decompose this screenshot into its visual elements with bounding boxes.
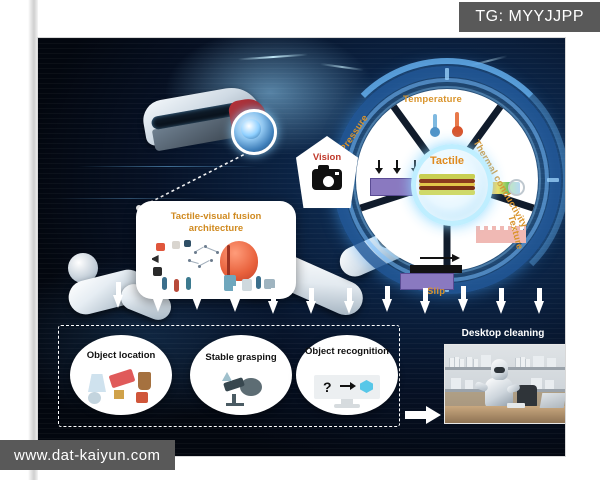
- right-arrow-icon: [405, 406, 441, 424]
- megaphone-icon: [152, 255, 163, 263]
- speaker-icon: [156, 243, 165, 251]
- down-arrow-icon: [113, 282, 124, 308]
- task-label-object-location: Object location: [70, 350, 172, 361]
- down-arrow-icon: [306, 288, 317, 314]
- brain-divider-icon: [227, 245, 230, 279]
- monitor-question-icon: ?: [314, 375, 380, 409]
- down-arrow-icon: [382, 286, 393, 312]
- tactile-center-label: Tactile: [411, 155, 483, 167]
- person-icon: [174, 279, 179, 292]
- person-icon: [186, 277, 191, 290]
- watermark-bottom-left: www.dat-kaiyun.com: [0, 440, 175, 470]
- page-edge-shadow: [28, 0, 38, 480]
- gripper-icon: [218, 372, 264, 406]
- camera-lens-icon: [321, 174, 336, 189]
- person-icon: [256, 276, 261, 289]
- watermark-top-right: TG: MYYJJPP: [459, 2, 600, 32]
- down-arrow-icon: [496, 288, 507, 314]
- task-label-object-recognition: Object recognition: [296, 346, 398, 357]
- demo-title: Desktop cleaning: [438, 328, 565, 339]
- thermometer-cold-icon: [428, 114, 442, 136]
- thermometer-hot-icon: [450, 112, 464, 136]
- down-arrow-icon: [192, 284, 203, 310]
- hud-tick: [547, 178, 559, 182]
- tactile-sensor-stack: [419, 174, 475, 196]
- down-arrow-icon: [534, 288, 545, 314]
- laptop-icon: [540, 393, 565, 408]
- robot-desk-photo: [444, 344, 565, 424]
- down-arrow-icon: [268, 288, 279, 314]
- hud-tick: [445, 68, 449, 80]
- fusion-architecture-illustration: [150, 239, 282, 293]
- photo-icon: [172, 241, 180, 249]
- tile-icon: [184, 240, 191, 247]
- robot-eye-iris: [241, 119, 261, 139]
- objects-cluster-icon: [84, 370, 158, 406]
- vision-label: Vision: [296, 152, 358, 163]
- camera-flash-icon: [335, 172, 339, 175]
- desk-icon: [242, 279, 252, 291]
- slip-arrow-icon: [420, 254, 466, 263]
- down-arrow-icon: [344, 288, 355, 314]
- desk-surface: [445, 406, 565, 423]
- wheel-label-temperature: Temperature: [403, 94, 462, 105]
- down-arrow-icon: [230, 286, 241, 312]
- slip-top-block-icon: [410, 265, 462, 273]
- figure-panel: Temperature Thermal conductivity Texture…: [38, 38, 565, 456]
- fusion-architecture-card: Tactile-visual fusion architecture: [136, 201, 296, 299]
- down-arrow-icon: [420, 288, 431, 314]
- down-arrow-icon: [153, 286, 164, 312]
- task-label-stable-grasping: Stable grasping: [190, 352, 292, 363]
- vision-callout: Vision: [296, 136, 358, 208]
- device-icon: [153, 267, 162, 276]
- down-arrow-icon: [458, 286, 469, 312]
- fusion-architecture-title: Tactile-visual fusion architecture: [144, 211, 288, 235]
